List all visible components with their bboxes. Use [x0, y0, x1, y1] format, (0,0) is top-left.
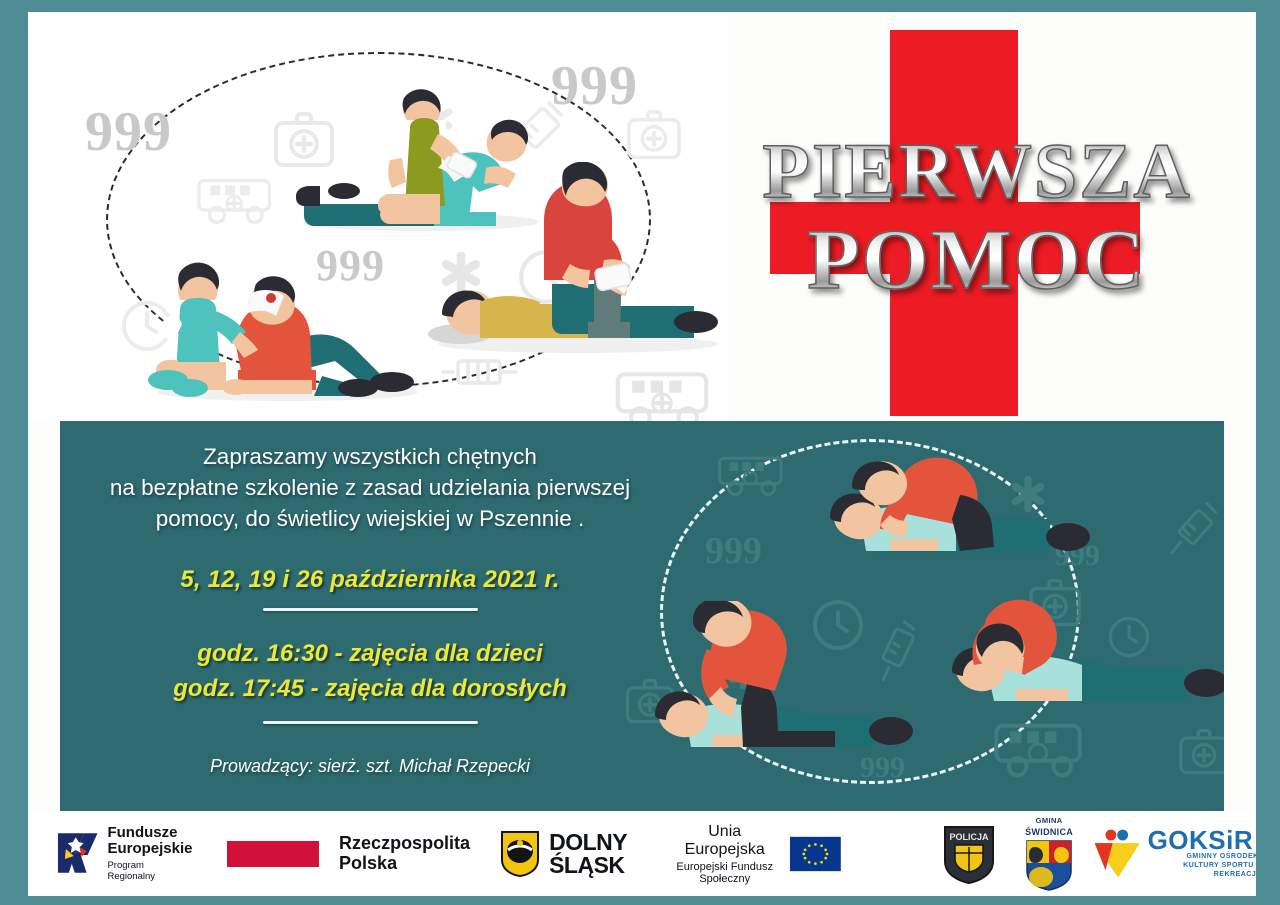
info-panel: 999 999 999 — [60, 421, 1224, 811]
time-children: godz. 16:30 - zajęcia dla dzieci — [80, 637, 660, 672]
event-dates: 5, 12, 19 i 26 października 2021 r. — [80, 566, 660, 594]
poster-title: PIERWSZA POMOC — [698, 132, 1256, 322]
logo-fundusze-europejskie: Fundusze Europejskie Program Regionalny — [56, 825, 193, 882]
intro-line-3: pomocy, do świetlicy wiejskiej w Pszenni… — [80, 503, 660, 534]
logo-goksir: GOKSiR GMINNY OŚRODEK KULTURY SPORTU I R… — [1091, 826, 1256, 882]
gmina-swidnica-crest-icon — [1025, 839, 1073, 891]
poster-canvas: 999 999 999 — [28, 12, 1256, 896]
instructor-line: Prowadzący: sierż. szt. Michał Rzepecki — [80, 756, 660, 777]
divider-top — [263, 608, 478, 611]
rzeczpospolita-text: Rzeczpospolita Polska — [339, 834, 470, 874]
unia-europejska-text: Unia Europejska Europejski Fundusz Społe… — [673, 823, 776, 885]
policja-label: POLICJA — [950, 832, 990, 842]
dolny-slask-crest-icon — [500, 830, 540, 878]
fundusze-europejskie-icon — [56, 831, 99, 877]
emergency-number-999: 999 — [85, 100, 172, 164]
sponsor-footer: Fundusze Europejskie Program Regionalny … — [28, 811, 1256, 896]
time-adults: godz. 17:45 - zajęcia dla dorosłych — [80, 672, 660, 707]
ds-line-1: DOLNY — [549, 831, 627, 854]
divider-bottom — [263, 721, 478, 724]
scene-head-bandage — [146, 240, 431, 405]
title-line-pomoc: POMOC — [698, 216, 1256, 302]
fe-line-2: Europejskie — [107, 841, 193, 857]
ue-line-1: Unia Europejska — [673, 823, 776, 859]
logo-dolny-slask: DOLNY ŚLĄSK — [500, 830, 627, 878]
ambulance-icon — [715, 451, 787, 501]
fe-line-1: Fundusze — [107, 825, 193, 841]
dolny-slask-text: DOLNY ŚLĄSK — [549, 831, 627, 877]
ue-line-2: Europejski Fundusz Społeczny — [673, 861, 776, 885]
logo-gmina-swidnica: GMINA ŚWIDNICA — [1025, 816, 1073, 891]
fundusze-europejskie-text: Fundusze Europejskie Program Regionalny — [107, 825, 193, 882]
ambulance-icon — [194, 172, 276, 230]
gmina-line-1: GMINA — [1036, 816, 1063, 825]
gmina-line-2: ŚWIDNICA — [1025, 827, 1073, 837]
intro-line-1: Zapraszamy wszystkich chętnych — [80, 441, 660, 472]
scene-rescue-breathing — [800, 451, 1120, 576]
goksir-sub-2: KULTURY SPORTU I REKREACJI — [1148, 862, 1256, 880]
goksir-mark-icon — [1091, 826, 1143, 882]
ds-line-2: ŚLĄSK — [549, 854, 627, 877]
policja-badge-icon: POLICJA — [941, 823, 997, 885]
title-line-pierwsza: PIERWSZA — [698, 132, 1256, 210]
event-times: godz. 16:30 - zajęcia dla dzieci godz. 1… — [80, 637, 660, 707]
scene-check-breathing — [920, 591, 1224, 741]
intro-paragraph: Zapraszamy wszystkich chętnych na bezpła… — [80, 441, 660, 534]
logo-rzeczpospolita-polska: Rzeczpospolita Polska — [227, 834, 470, 874]
top-illustration: 999 999 999 — [28, 12, 728, 422]
rp-line-2: Polska — [339, 854, 470, 874]
eu-flag-icon — [790, 829, 841, 879]
syringe-icon — [1165, 499, 1221, 571]
first-aid-kit-icon — [626, 110, 682, 160]
rp-line-1: Rzeczpospolita — [339, 834, 470, 854]
goksir-wordmark: GOKSiR — [1148, 827, 1256, 853]
intro-line-2: na bezpłatne szkolenie z zasad udzielani… — [80, 472, 660, 503]
fe-subtitle: Program Regionalny — [107, 860, 193, 882]
polish-flag-icon — [227, 841, 319, 867]
panel-text-block: Zapraszamy wszystkich chętnych na bezpła… — [80, 441, 660, 777]
goksir-text: GOKSiR GMINNY OŚRODEK KULTURY SPORTU I R… — [1148, 827, 1256, 879]
logo-unia-europejska: Unia Europejska Europejski Fundusz Społe… — [673, 823, 841, 885]
logo-policja: POLICJA — [941, 823, 997, 885]
emergency-number-999: 999 — [705, 529, 762, 573]
syringe-icon — [440, 352, 524, 392]
scene-leg-bandage — [428, 162, 728, 357]
scene-chest-compression — [655, 601, 945, 761]
